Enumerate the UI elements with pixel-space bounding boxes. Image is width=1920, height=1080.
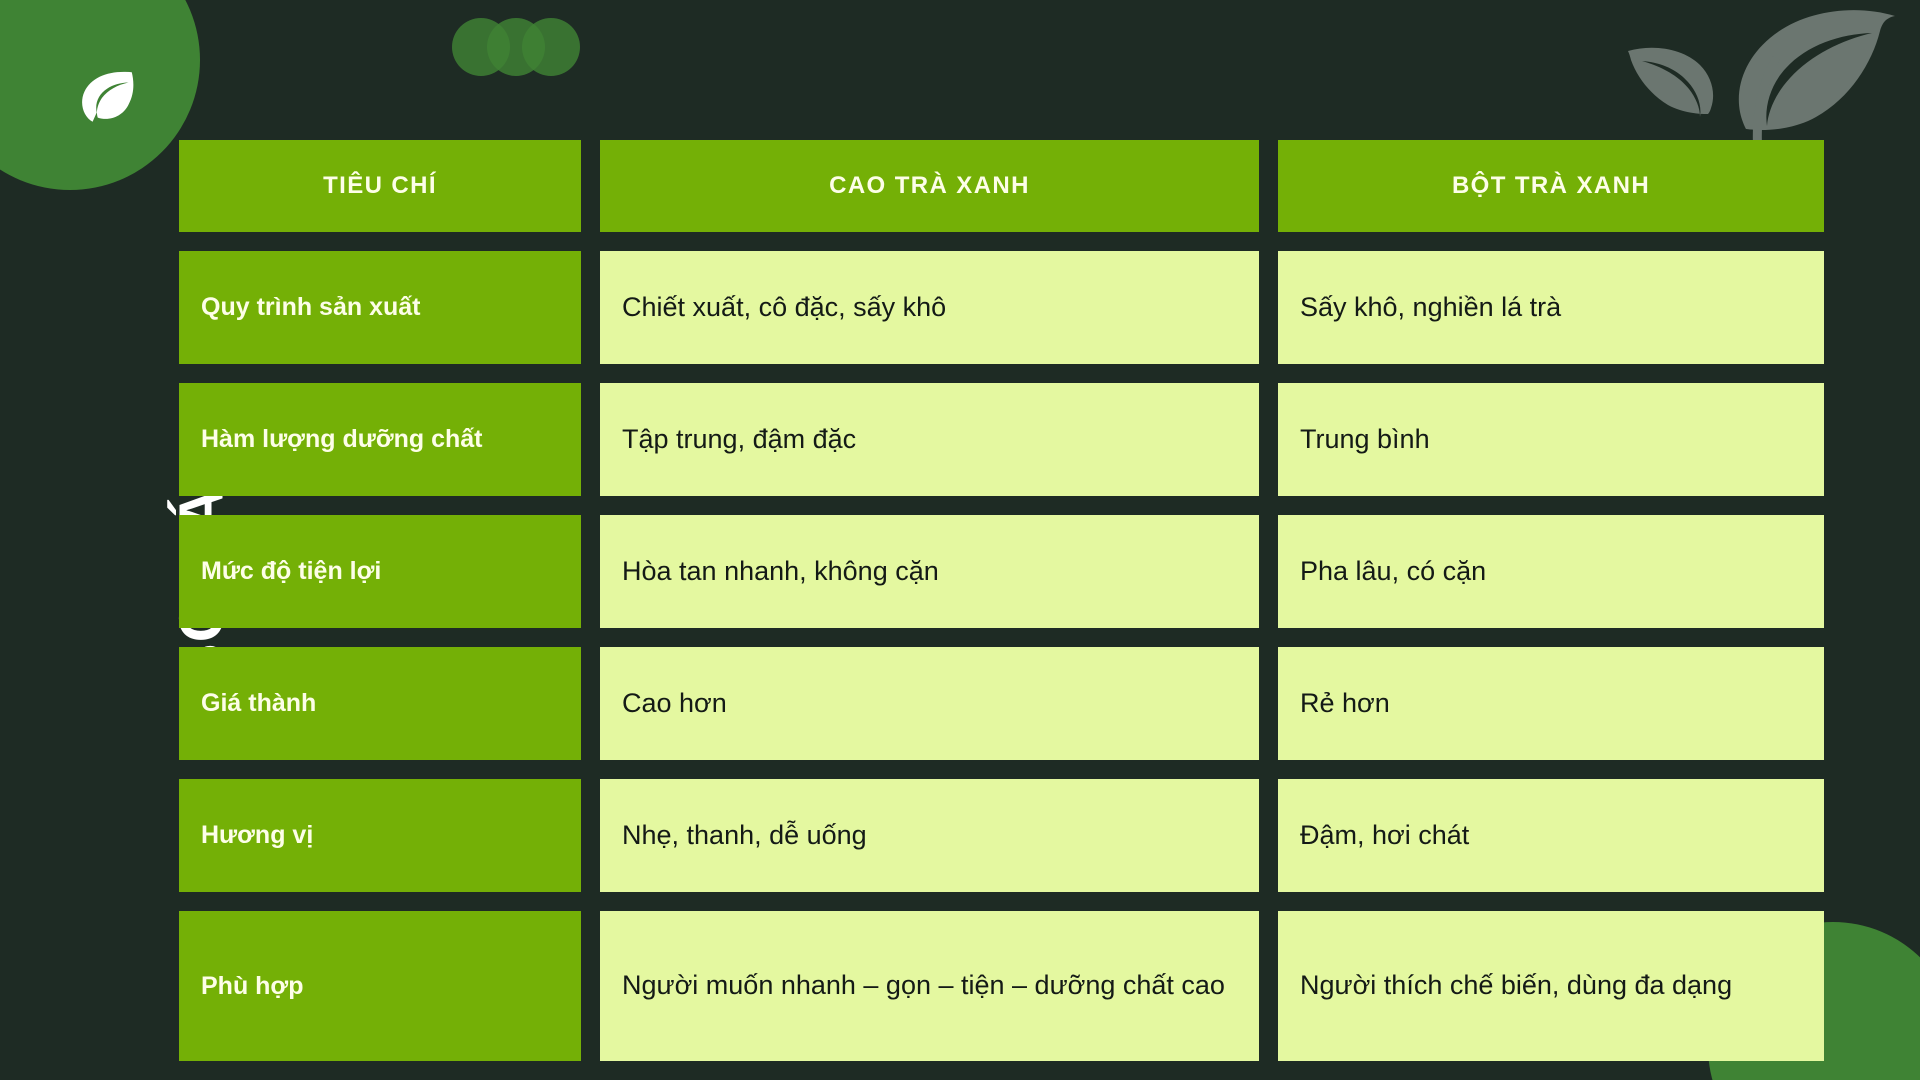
cell-bot-tra-xanh: Sấy khô, nghiền lá trà	[1278, 251, 1824, 364]
table-row: Phù hợp Người muốn nhanh – gọn – tiện – …	[179, 911, 1826, 1061]
row-label: Quy trình sản xuất	[179, 251, 581, 364]
cell-bot-tra-xanh: Pha lâu, có cặn	[1278, 515, 1824, 628]
cell-cao-tra-xanh: Người muốn nhanh – gọn – tiện – dưỡng ch…	[600, 911, 1259, 1061]
row-label: Phù hợp	[179, 911, 581, 1061]
column-header-criterion: TIÊU CHÍ	[179, 140, 581, 232]
row-label: Mức độ tiện lợi	[179, 515, 581, 628]
table-row: Quy trình sản xuất Chiết xuất, cô đặc, s…	[179, 251, 1826, 364]
table-row: Hương vị Nhẹ, thanh, dễ uống Đậm, hơi ch…	[179, 779, 1826, 892]
table-row: Hàm lượng dưỡng chất Tập trung, đậm đặc …	[179, 383, 1826, 496]
brand-logo-badge	[0, 0, 200, 190]
cell-bot-tra-xanh: Rẻ hơn	[1278, 647, 1824, 760]
cell-cao-tra-xanh: Cao hơn	[600, 647, 1259, 760]
table-row: Mức độ tiện lợi Hòa tan nhanh, không cặn…	[179, 515, 1826, 628]
row-label: Hàm lượng dưỡng chất	[179, 383, 581, 496]
column-header-cao-tra-xanh: CAO TRÀ XANH	[600, 140, 1259, 232]
cell-bot-tra-xanh: Trung bình	[1278, 383, 1824, 496]
leaf-icon	[73, 65, 139, 131]
cell-bot-tra-xanh: Đậm, hơi chát	[1278, 779, 1824, 892]
row-label: Giá thành	[179, 647, 581, 760]
sprout-icon	[1606, 0, 1906, 154]
column-header-bot-tra-xanh: BỘT TRÀ XANH	[1278, 140, 1824, 232]
three-circles-icon	[452, 18, 580, 76]
comparison-table: TIÊU CHÍ CAO TRÀ XANH BỘT TRÀ XANH Quy t…	[179, 140, 1826, 1080]
cell-cao-tra-xanh: Chiết xuất, cô đặc, sấy khô	[600, 251, 1259, 364]
cell-bot-tra-xanh: Người thích chế biến, dùng đa dạng	[1278, 911, 1824, 1061]
table-header-row: TIÊU CHÍ CAO TRÀ XANH BỘT TRÀ XANH	[179, 140, 1826, 232]
row-label: Hương vị	[179, 779, 581, 892]
cell-cao-tra-xanh: Tập trung, đậm đặc	[600, 383, 1259, 496]
cell-cao-tra-xanh: Hòa tan nhanh, không cặn	[600, 515, 1259, 628]
table-row: Giá thành Cao hơn Rẻ hơn	[179, 647, 1826, 760]
cell-cao-tra-xanh: Nhẹ, thanh, dễ uống	[600, 779, 1259, 892]
